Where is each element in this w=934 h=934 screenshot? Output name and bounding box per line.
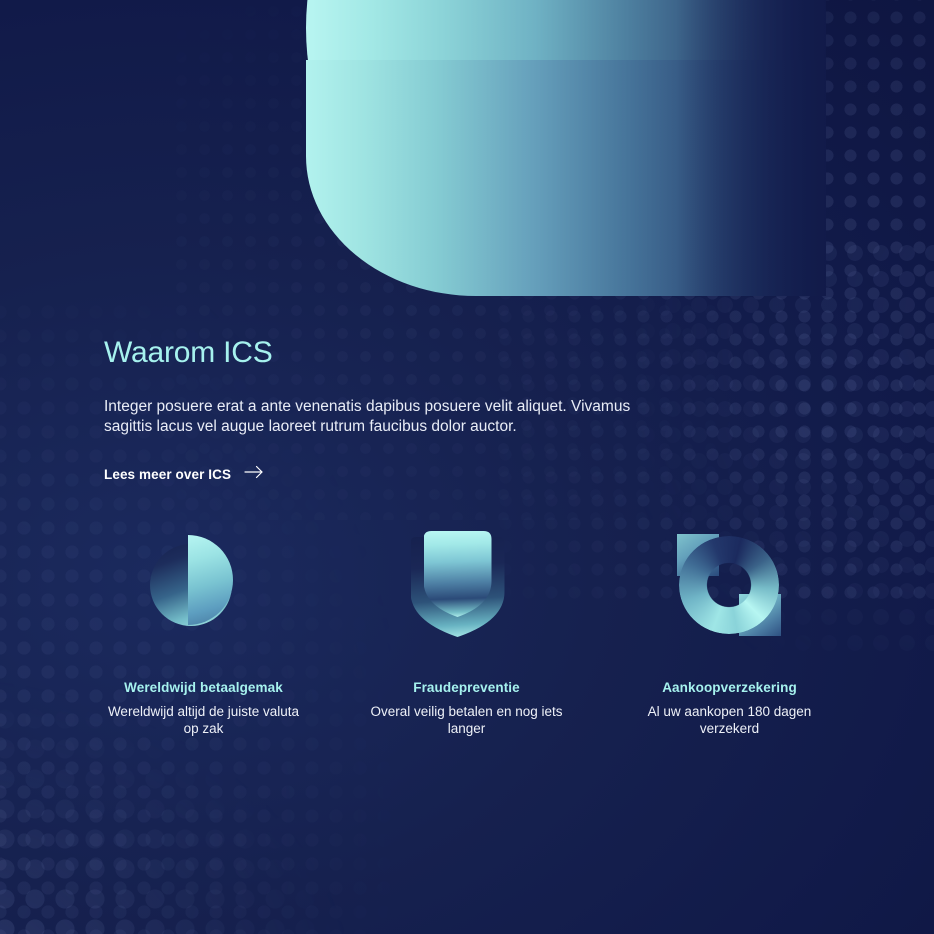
globe-half-shape [188, 535, 233, 625]
feature-title: Fraudepreventie [413, 680, 520, 695]
feature-list: Wereldwijd betaalgemak Wereldwijd altijd… [72, 525, 862, 738]
cycle-shape-group [679, 536, 779, 634]
feature-card-fraud: Fraudepreventie Overal veilig betalen en… [335, 525, 598, 738]
page-title: Waarom ICS [104, 336, 704, 371]
feature-description: Overal veilig betalen en nog iets langer [367, 704, 567, 738]
refresh-cycle-icon [670, 525, 790, 645]
globe-icon [144, 525, 264, 645]
cycle-ring [679, 536, 779, 634]
feature-card-worldwide: Wereldwijd betaalgemak Wereldwijd altijd… [72, 525, 335, 738]
feature-description: Al uw aankopen 180 dagen verzekerd [630, 704, 830, 738]
page-content: Waarom ICS Integer posuere erat a ante v… [0, 0, 934, 934]
feature-card-insurance: Aankoopverzekering Al uw aankopen 180 da… [598, 525, 861, 738]
arrow-right-icon [244, 465, 264, 484]
read-more-label: Lees meer over ICS [104, 467, 231, 482]
shield-icon [407, 525, 527, 645]
intro-section: Waarom ICS Integer posuere erat a ante v… [104, 336, 704, 484]
feature-title: Wereldwijd betaalgemak [124, 680, 283, 695]
page-root: Waarom ICS Integer posuere erat a ante v… [0, 0, 934, 934]
feature-title: Aankoopverzekering [662, 680, 797, 695]
feature-description: Wereldwijd altijd de juiste valuta op za… [104, 704, 304, 738]
intro-paragraph: Integer posuere erat a ante venenatis da… [104, 397, 660, 438]
read-more-link[interactable]: Lees meer over ICS [104, 465, 264, 484]
